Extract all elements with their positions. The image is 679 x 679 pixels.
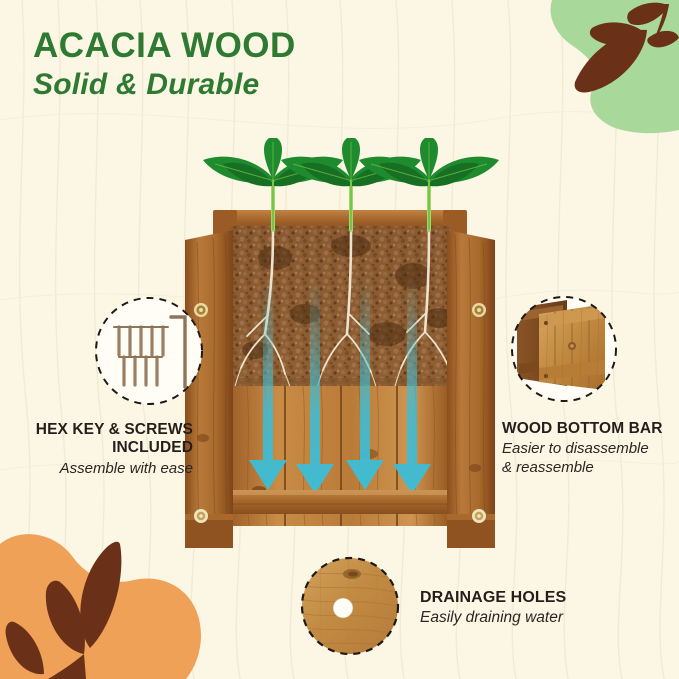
page-title: ACACIA WOOD (33, 27, 296, 65)
planter-illustration (155, 138, 525, 558)
planter-bottom-bar (217, 490, 463, 514)
callout-text: HEX KEY & SCREWS INCLUDED Assemble with … (0, 421, 205, 478)
screw-icon (472, 509, 486, 523)
callout-subtitle: Easier to disassemble & reassemble (502, 440, 679, 477)
callout-title: WOOD BOTTOM BAR (502, 420, 679, 438)
callout-text: DRAINAGE HOLES Easily draining water (420, 589, 566, 629)
soil-cross-section (229, 226, 453, 408)
callout-subtitle: Easily draining water (420, 609, 566, 628)
callout-text: WOOD BOTTOM BAR Easier to disassemble & … (495, 420, 679, 477)
wood-disc-with-hole-icon (296, 552, 404, 660)
callout-subtitle: Assemble with ease (0, 460, 193, 478)
callout-drainage-holes: DRAINAGE HOLES Easily draining water (296, 552, 626, 665)
page-subtitle: Solid & Durable (33, 68, 296, 102)
callout-title: DRAINAGE HOLES (420, 589, 566, 608)
callout-hex-key-screws: HEX KEY & SCREWS INCLUDED Assemble with … (0, 295, 205, 478)
callout-icon-circle (296, 552, 404, 665)
screws-and-hex-key-icon (93, 295, 205, 407)
corner-decoration-top-right (489, 0, 679, 135)
callout-icon-circle (40, 295, 205, 412)
callout-wood-bottom-bar: WOOD BOTTOM BAR Easier to disassemble & … (495, 290, 679, 477)
planter-corner-post-right (447, 230, 495, 526)
screw-icon (194, 509, 208, 523)
screw-icon (472, 303, 486, 317)
wood-panel-icon (505, 290, 623, 408)
header-block: ACACIA WOOD Solid & Durable (33, 27, 296, 101)
callout-title: HEX KEY & SCREWS INCLUDED (0, 421, 193, 458)
callout-icon-circle (505, 290, 679, 413)
